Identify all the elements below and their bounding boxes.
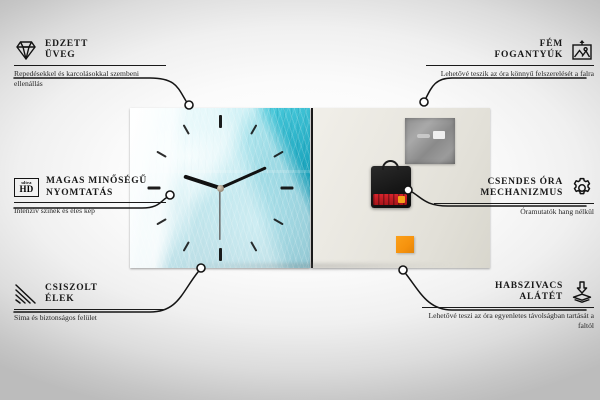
diamond-icon: [14, 38, 38, 62]
tick-12: [219, 115, 222, 128]
callout-title-line2: MECHANIZMUS: [480, 188, 563, 200]
callout-polished-edges: CSISZOLT ÉLEK Sima és biztonságos felüle…: [14, 282, 166, 323]
tick-3: [280, 187, 293, 190]
callout-title-line1: FÉM: [495, 39, 564, 51]
callout-silent-mechanism: CSENDES ÓRA MECHANIZMUS Óramutatók hang …: [434, 176, 594, 217]
callout-divider: [14, 202, 166, 203]
diagonal-lines-icon: [14, 282, 38, 306]
foam-spacer-pad: [396, 236, 414, 253]
battery-plus-terminal: [398, 196, 405, 203]
callout-title-line1: EDZETT: [45, 39, 88, 51]
metal-hanger-plate: [405, 118, 455, 164]
battery: [373, 194, 407, 205]
framed-picture-on-nail-icon: [570, 38, 594, 62]
callout-description: Repedésekkel és karcolásokkal szembeni e…: [14, 69, 166, 88]
print-band-h1: [130, 170, 310, 173]
callout-divider: [434, 203, 594, 204]
callout-divider: [422, 307, 594, 308]
clock-mechanism: [371, 166, 411, 208]
callout-metal-handles: FÉM FOGANTYÚK Lehetővé teszik az óra kön…: [426, 38, 594, 79]
wire-node-metal-handles: [420, 98, 428, 106]
mechanism-hanger-loop: [382, 160, 399, 170]
tick-6: [219, 248, 222, 261]
callout-tempered-glass: EDZETT ÜVEG Repedésekkel és karcolásokka…: [14, 38, 166, 88]
callout-title-line1: HABSZIVACS: [495, 281, 563, 293]
gear-icon: [570, 176, 594, 200]
arrow-into-layers-icon: [570, 280, 594, 304]
callout-title-line2: NYOMTATÁS: [46, 188, 147, 200]
callout-title-line1: CSENDES ÓRA: [480, 177, 563, 189]
infographic-canvas: EDZETT ÜVEG Repedésekkel és karcolásokka…: [0, 0, 600, 400]
callout-title-line2: FOGANTYÚK: [495, 50, 564, 62]
callout-high-quality-print: ultra HD MAGAS MINŐSÉGŰ NYOMTATÁS Intenz…: [14, 176, 166, 216]
wire-metal-handles: [426, 78, 586, 98]
callout-description: Lehetővé teszik az óra könnyű felszerelé…: [426, 69, 594, 79]
hand-center-cap: [217, 185, 224, 192]
callout-title-line1: CSISZOLT: [45, 283, 98, 295]
callout-description: Intenzív színek és éles kép: [14, 206, 166, 216]
callout-title-line1: MAGAS MINŐSÉGŰ: [46, 176, 147, 188]
callout-title-line2: ÉLEK: [45, 294, 98, 306]
callout-title-line2: ÜVEG: [45, 50, 88, 62]
callout-foam-pad: HABSZIVACS ALÁTÉT Lehetővé teszi az óra …: [422, 280, 594, 330]
callout-title-line2: ALÁTÉT: [495, 292, 563, 304]
callout-description: Sima és biztonságos felület: [14, 313, 166, 323]
callout-divider: [426, 65, 594, 66]
ultra-hd-badge-large: HD: [19, 185, 33, 194]
callout-description: Lehetővé teszi az óra egyenletes távolsá…: [422, 311, 594, 330]
callout-description: Óramutatók hang nélkül: [434, 207, 594, 217]
callout-divider: [14, 65, 166, 66]
callout-divider: [14, 309, 166, 310]
ultra-hd-badge-icon: ultra HD: [14, 178, 39, 197]
